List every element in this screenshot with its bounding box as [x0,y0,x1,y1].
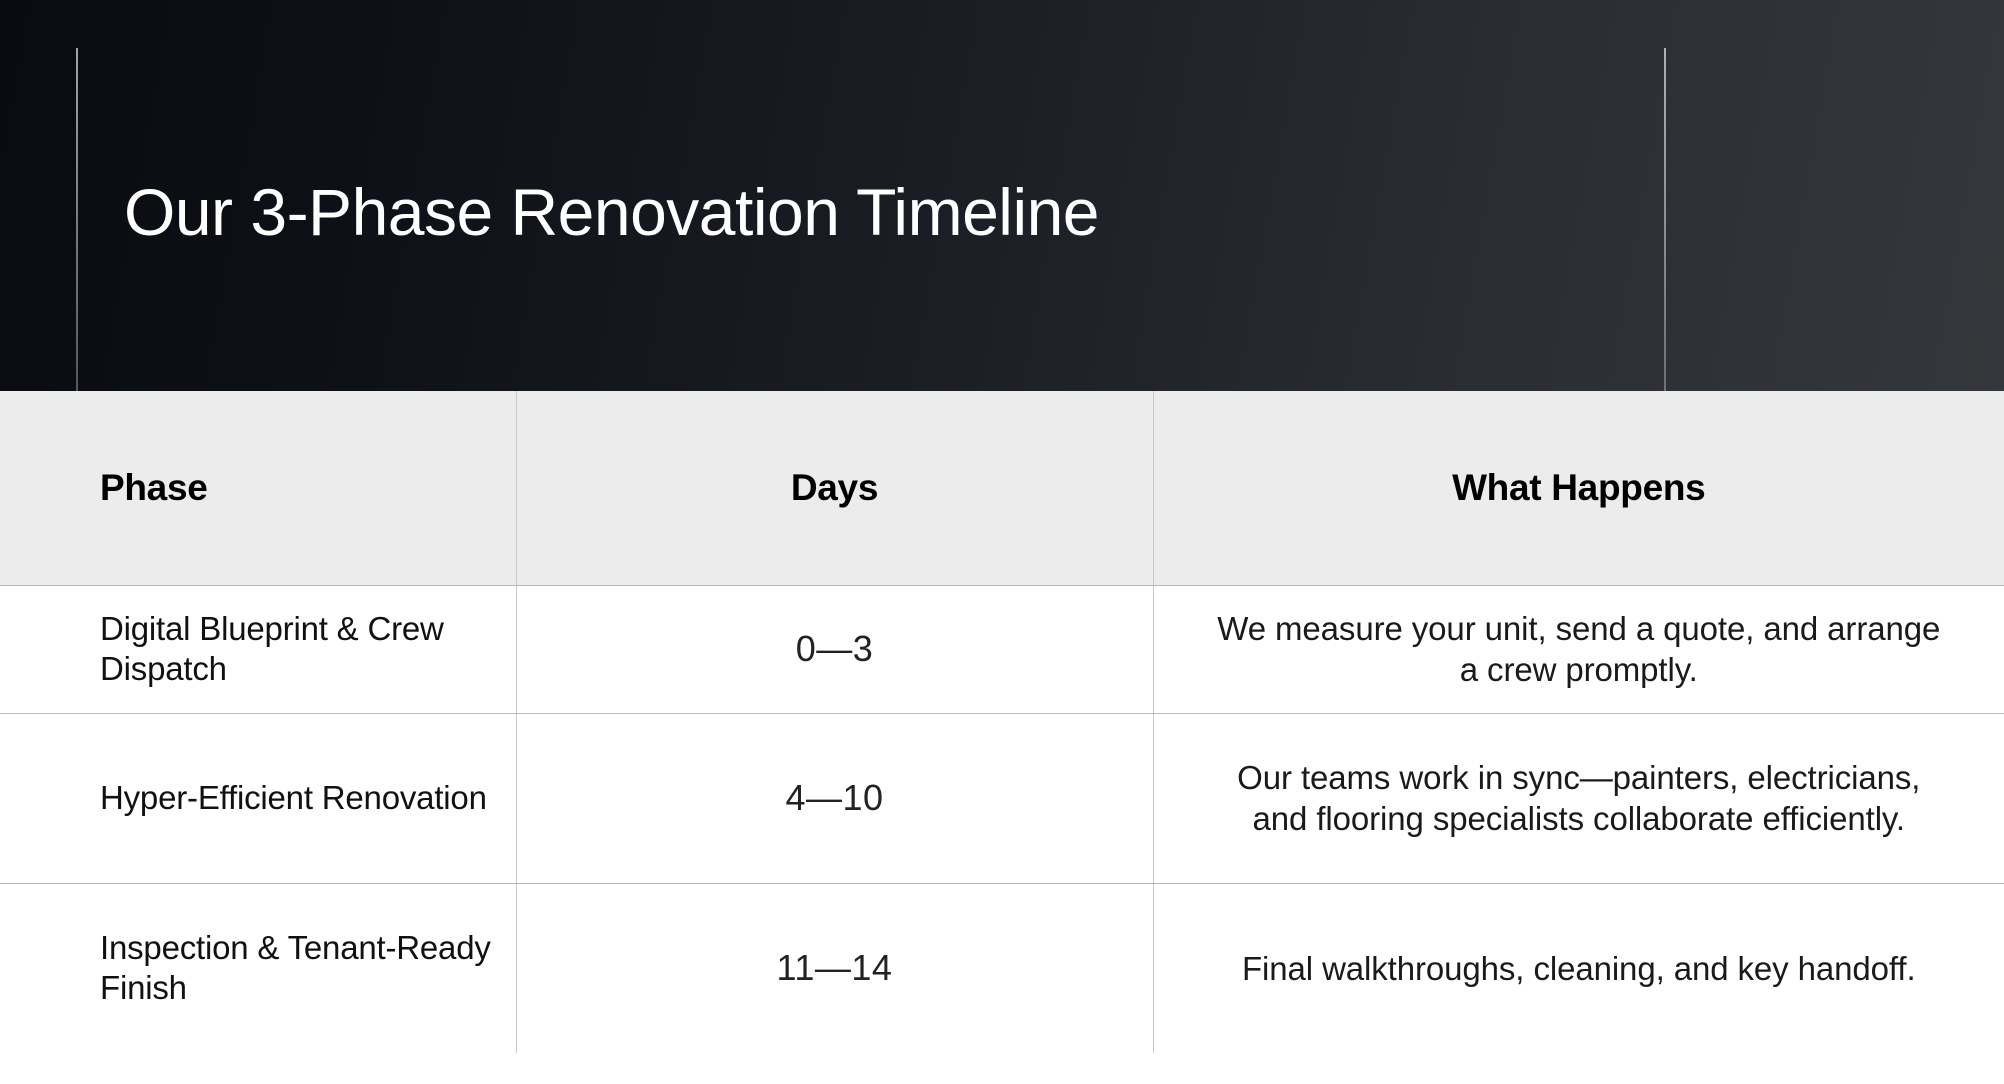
hero-accent-rule-left [76,48,78,391]
cell-days: 11—14 [516,883,1153,1053]
cell-days: 0—3 [516,585,1153,713]
column-header-phase: Phase [0,391,516,585]
cell-phase: Inspection & Tenant-Ready Finish [0,883,516,1053]
table-header: Phase Days What Happens [0,391,2004,585]
hero-banner: Our 3-Phase Renovation Timeline [0,0,2004,391]
table-body: Digital Blueprint & Crew Dispatch 0—3 We… [0,585,2004,1053]
hero-accent-rule-right [1664,48,1666,391]
table-row: Digital Blueprint & Crew Dispatch 0—3 We… [0,585,2004,713]
table-row: Inspection & Tenant-Ready Finish 11—14 F… [0,883,2004,1053]
column-header-what-happens: What Happens [1153,391,2004,585]
slide-root: Our 3-Phase Renovation Timeline Phase Da… [0,0,2004,1084]
page-title: Our 3-Phase Renovation Timeline [124,178,1099,247]
column-header-days: Days [516,391,1153,585]
cell-phase: Digital Blueprint & Crew Dispatch [0,585,516,713]
table-header-row: Phase Days What Happens [0,391,2004,585]
table-row: Hyper-Efficient Renovation 4—10 Our team… [0,713,2004,883]
cell-phase: Hyper-Efficient Renovation [0,713,516,883]
cell-what-happens: Our teams work in sync—painters, electri… [1153,713,2004,883]
cell-what-happens: Final walkthroughs, cleaning, and key ha… [1153,883,2004,1053]
cell-what-happens: We measure your unit, send a quote, and … [1153,585,2004,713]
cell-days: 4—10 [516,713,1153,883]
renovation-timeline-table: Phase Days What Happens Digital Blueprin… [0,391,2004,1053]
